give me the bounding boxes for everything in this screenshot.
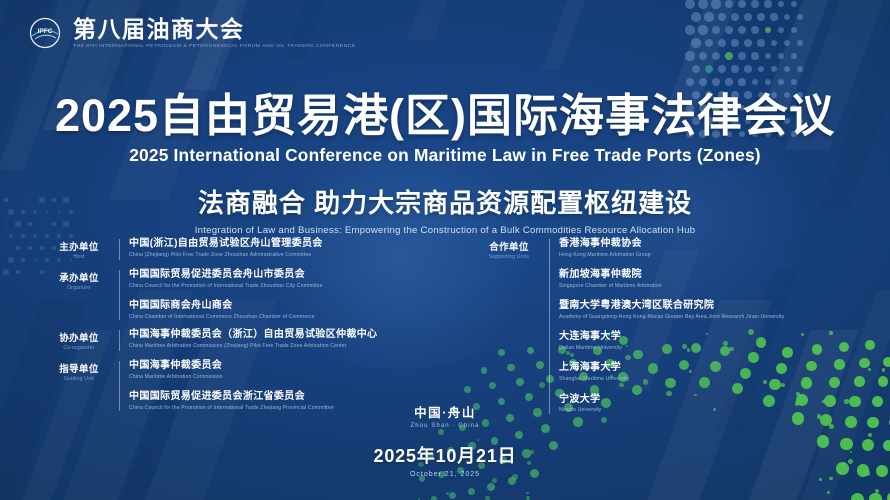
- organizer-name-cn: 中国海事仲裁委员会: [129, 360, 448, 373]
- organizer-name-list: 中国海事仲裁委员会（浙江）自由贸易试验区仲裁中心China Maritime A…: [129, 329, 448, 349]
- organizer-entry: 新加坡海事仲裁院Singapore Chamber of Maritime Ar…: [559, 269, 878, 289]
- organizer-name-list: 香港海事仲裁协会Hong Kong Maritime Arbitration G…: [559, 238, 878, 414]
- conference-title-cn: 2025自由贸易港(区)国际海事法律会议: [0, 92, 890, 141]
- organizer-entry: 中国(浙江)自由贸易试验区舟山管理委员会China (Zhejiang) Pil…: [129, 238, 448, 258]
- organizer-role-en: Guiding Unit: [64, 376, 94, 382]
- organizer-divider: [119, 330, 120, 351]
- organizer-name-cn: 中国海事仲裁委员会（浙江）自由贸易试验区仲裁中心: [129, 329, 448, 342]
- svg-text:IPFC: IPFC: [38, 28, 53, 35]
- organizer-entry: 大连海事大学Dalian Maritime University: [559, 331, 878, 351]
- organizer-divider: [549, 239, 550, 414]
- organizer-name-en: China Maritime Arbitration Commission: [129, 374, 448, 381]
- organizer-entry: 上海海事大学Shanghai Maritime University: [559, 362, 878, 382]
- organizer-role-cn: 承办单位: [59, 270, 99, 284]
- brand-logo: IPFC 第八届油商大会 THE 8TH INTERNATIONAL PETRO…: [26, 14, 356, 52]
- organizer-group: 承办单位Organizer中国国际贸易促进委员会舟山市委员会China Coun…: [48, 269, 448, 320]
- organizer-name-cn: 上海海事大学: [559, 362, 878, 375]
- organizer-name-en: Shanghai Maritime University: [559, 376, 878, 383]
- organizer-group: 合作单位Supporting Units香港海事仲裁协会Hong Kong Ma…: [478, 238, 878, 414]
- brand-name-cn: 第八届油商大会: [73, 17, 356, 41]
- organizer-role-label: 合作单位Supporting Units: [478, 238, 540, 260]
- organizer-role-cn: 协办单位: [59, 330, 99, 344]
- organizer-entry: 中国海事仲裁委员会China Maritime Arbitration Comm…: [129, 360, 448, 380]
- organizer-group: 协办单位Co-organizer中国海事仲裁委员会（浙江）自由贸易试验区仲裁中心…: [48, 329, 448, 351]
- organizer-column-left: 主办单位Host中国(浙江)自由贸易试验区舟山管理委员会China (Zheji…: [48, 238, 448, 420]
- organizer-name-cn: 香港海事仲裁协会: [559, 238, 878, 251]
- organizer-name-cn: 暨南大学粤港澳大湾区联合研究院: [559, 300, 878, 313]
- organizer-role-en: Organizer: [67, 285, 91, 291]
- venue-place-cn: 中国·舟山: [0, 402, 890, 421]
- organizer-name-en: Hong Kong Maritime Arbitration Group: [559, 252, 878, 259]
- organizer-entry: 中国海事仲裁委员会（浙江）自由贸易试验区仲裁中心China Maritime A…: [129, 329, 448, 349]
- footer-block: 中国·舟山 Zhou Shan · China 2025年10月21日 Octo…: [0, 402, 890, 478]
- organizer-name-en: China Council for the Promotion of Inter…: [129, 283, 448, 290]
- conference-poster: IPFC 第八届油商大会 THE 8TH INTERNATIONAL PETRO…: [0, 0, 890, 500]
- organizer-entry: 暨南大学粤港澳大湾区联合研究院Academy of Guangdong-Hong…: [559, 300, 878, 320]
- organizer-name-cn: 新加坡海事仲裁院: [559, 269, 878, 282]
- venue-place-en: Zhou Shan · China: [0, 423, 890, 429]
- organizer-role-cn: 合作单位: [489, 239, 529, 253]
- organizer-column-right: 合作单位Supporting Units香港海事仲裁协会Hong Kong Ma…: [478, 238, 878, 423]
- organizer-name-cn: 中国(浙江)自由贸易试验区舟山管理委员会: [129, 238, 448, 251]
- brand-name-en: THE 8TH INTERNATIONAL PETROLEUM & PETROC…: [73, 43, 356, 49]
- organizer-role-label: 主办单位Host: [48, 238, 110, 260]
- ipfc-emblem-icon: IPFC: [26, 14, 64, 52]
- event-date-en: October 21, 2025: [0, 471, 890, 478]
- organizer-name-en: Academy of Guangdong-Hong Kong-Macao Gre…: [559, 314, 878, 321]
- conference-subtitle-en: Integration of Law and Business: Empower…: [0, 225, 890, 236]
- organizer-name-en: Singapore Chamber of Maritime Arbitratio…: [559, 283, 878, 290]
- organizer-role-cn: 主办单位: [59, 239, 99, 253]
- organizer-name-en: China Maritime Arbitration Commission (Z…: [129, 343, 448, 350]
- organizer-role-label: 指导单位Guiding Unit: [48, 360, 110, 382]
- organizer-role-label: 协办单位Co-organizer: [48, 329, 110, 351]
- title-block: 2025自由贸易港(区)国际海事法律会议 2025 International …: [0, 92, 890, 236]
- event-date-cn: 2025年10月21日: [0, 442, 890, 468]
- organizer-name-cn: 大连海事大学: [559, 331, 878, 344]
- organizer-name-en: China (Zhejiang) Pilot Free Trade Zone Z…: [129, 252, 448, 259]
- organizer-name-en: Dalian Maritime University: [559, 345, 878, 352]
- organizer-role-en: Co-organizer: [63, 345, 94, 351]
- organizer-role-en: Host: [73, 254, 84, 260]
- organizer-entry: 中国国际商会舟山商会China Chamber of International…: [129, 300, 448, 320]
- organizer-divider: [119, 239, 120, 260]
- organizer-role-label: 承办单位Organizer: [48, 269, 110, 291]
- organizer-name-cn: 中国国际贸易促进委员会舟山市委员会: [129, 269, 448, 282]
- organizer-name-list: 中国国际贸易促进委员会舟山市委员会China Council for the P…: [129, 269, 448, 320]
- organizer-name-list: 中国(浙江)自由贸易试验区舟山管理委员会China (Zhejiang) Pil…: [129, 238, 448, 258]
- organizer-entry: 香港海事仲裁协会Hong Kong Maritime Arbitration G…: [559, 238, 878, 258]
- organizer-group: 主办单位Host中国(浙江)自由贸易试验区舟山管理委员会China (Zheji…: [48, 238, 448, 260]
- organizer-section: 主办单位Host中国(浙江)自由贸易试验区舟山管理委员会China (Zheji…: [0, 238, 890, 408]
- organizer-name-en: China Chamber of International Commerce …: [129, 314, 448, 321]
- organizer-divider: [119, 270, 120, 320]
- conference-title-en: 2025 International Conference on Maritim…: [4, 145, 885, 166]
- organizer-role-cn: 指导单位: [59, 361, 99, 375]
- organizer-entry: 中国国际贸易促进委员会舟山市委员会China Council for the P…: [129, 269, 448, 289]
- organizer-name-cn: 中国国际商会舟山商会: [129, 300, 448, 313]
- conference-subtitle-cn: 法商融合 助力大宗商品资源配置枢纽建设: [0, 183, 890, 220]
- organizer-role-en: Supporting Units: [489, 254, 529, 260]
